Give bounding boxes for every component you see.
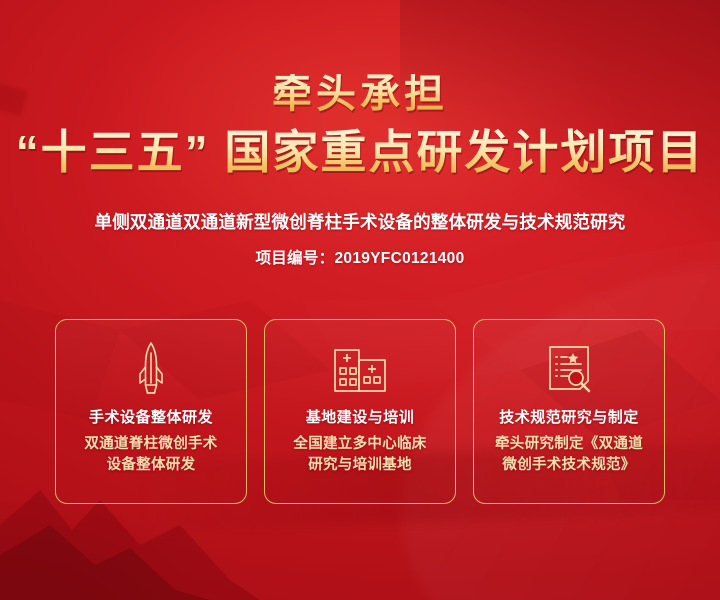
highlight-card-2[interactable]: 基地建设与培训 全国建立多中心临床 研究与培训基地 <box>264 319 456 504</box>
page-title-line2: “十三五” 国家重点研发计划项目 <box>0 128 720 176</box>
highlight-card-1[interactable]: 手术设备整体研发 双通道脊柱微创手术 设备整体研发 <box>55 319 247 504</box>
banner-heading: 牵头承担 “十三五” 国家重点研发计划项目 <box>0 74 720 176</box>
hospital-building-icon <box>332 340 388 398</box>
card-description-line1: 全国建立多中心临床 <box>293 434 426 455</box>
project-number: 项目编号：2019YFC0121400 <box>0 246 720 268</box>
card-description-line2: 研究与培训基地 <box>293 455 426 476</box>
rocket-icon <box>134 340 168 398</box>
card-description-line2: 设备整体研发 <box>84 455 217 476</box>
card-title: 基地建设与培训 <box>306 406 415 427</box>
card-description-line1: 双通道脊柱微创手术 <box>84 434 217 455</box>
card-description-line1: 牵头研究制定《双通道 <box>495 434 643 455</box>
highlight-card-list: 手术设备整体研发 双通道脊柱微创手术 设备整体研发 <box>55 319 665 504</box>
promo-banner: 牵头承担 “十三五” 国家重点研发计划项目 单侧双通道双通道新型微创脊柱手术设备… <box>0 0 720 600</box>
card-description: 全国建立多中心临床 研究与培训基地 <box>293 434 426 476</box>
card-title: 技术规范研究与制定 <box>499 406 639 427</box>
project-subtitle: 单侧双通道双通道新型微创脊柱手术设备的整体研发与技术规范研究 <box>0 209 720 234</box>
card-description: 双通道脊柱微创手术 设备整体研发 <box>84 434 217 476</box>
card-title: 手术设备整体研发 <box>89 406 213 427</box>
card-description: 牵头研究制定《双通道 微创手术技术规范》 <box>495 434 643 476</box>
document-search-icon <box>543 340 595 398</box>
page-title-line1: 牵头承担 <box>0 74 720 114</box>
highlight-card-3[interactable]: 技术规范研究与制定 牵头研究制定《双通道 微创手术技术规范》 <box>473 319 665 504</box>
card-description-line2: 微创手术技术规范》 <box>495 455 643 476</box>
